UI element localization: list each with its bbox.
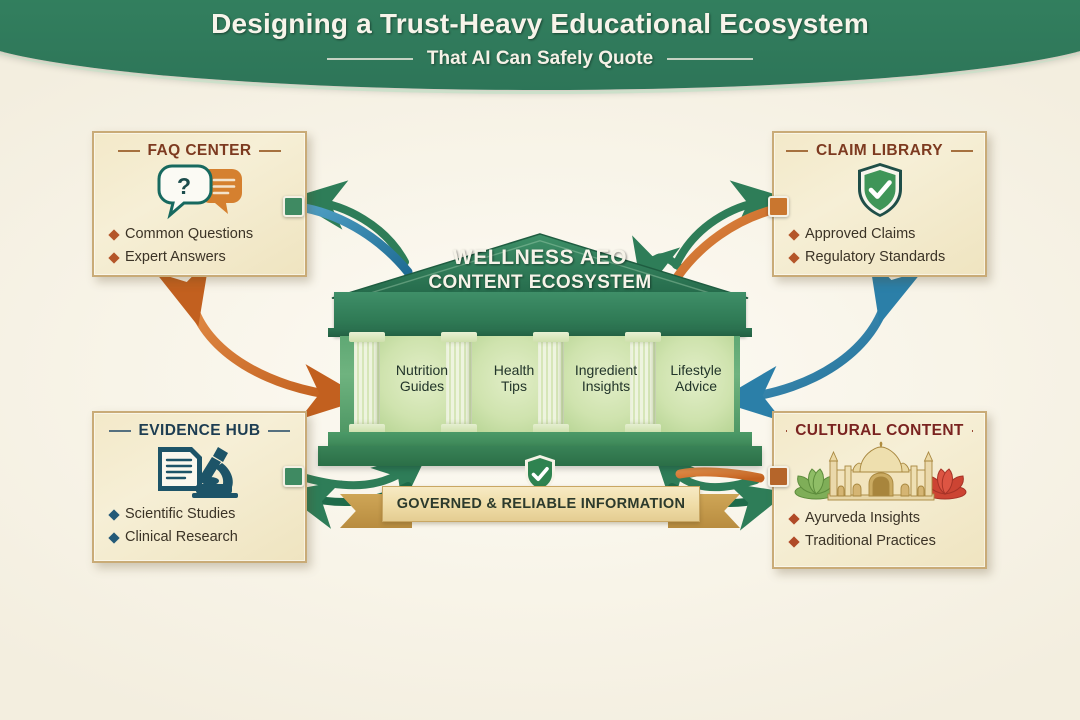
diamond-bullet-icon: [788, 536, 799, 547]
pillar-label-line1: Ingredient: [568, 362, 644, 378]
subtitle-rule-right: [667, 58, 753, 60]
banner-ribbon: GOVERNED & RELIABLE INFORMATION: [382, 486, 700, 522]
list-item: Common Questions: [110, 224, 293, 245]
card-rule-right: [972, 430, 973, 432]
infographic-canvas: Designing a Trust-Heavy Educational Ecos…: [0, 0, 1080, 720]
pillar-label-line2: Tips: [476, 378, 552, 394]
card-rule-right: [951, 150, 973, 152]
diamond-bullet-icon: [788, 513, 799, 524]
governance-banner: GOVERNED & RELIABLE INFORMATION: [340, 470, 740, 532]
diamond-bullet-icon: [108, 252, 119, 263]
diamond-bullet-icon: [108, 532, 119, 543]
pillar-label-line2: Guides: [384, 378, 460, 394]
list-item: Regulatory Standards: [790, 247, 973, 268]
list-item: Ayurveda Insights: [790, 508, 973, 529]
connector-nub-faq: [283, 196, 304, 217]
pillar-label-nutrition: Nutrition Guides: [384, 362, 460, 394]
card-bullet-list: Ayurveda Insights Traditional Practices: [786, 508, 973, 552]
title-block: Designing a Trust-Heavy Educational Ecos…: [0, 8, 1080, 70]
list-item-label: Scientific Studies: [125, 504, 235, 525]
list-item-label: Approved Claims: [805, 224, 915, 245]
connector-nub-claim: [768, 196, 789, 217]
list-item: Traditional Practices: [790, 531, 973, 552]
subtitle-row: That AI Can Safely Quote: [0, 48, 1080, 70]
list-item-label: Regulatory Standards: [805, 247, 945, 268]
card-bullet-list: Approved Claims Regulatory Standards: [786, 224, 973, 268]
card-title: EVIDENCE HUB: [139, 422, 261, 440]
page-title: Designing a Trust-Heavy Educational Ecos…: [0, 8, 1080, 40]
diamond-bullet-icon: [108, 229, 119, 240]
temple-column-1: [352, 332, 382, 436]
diamond-bullet-icon: [108, 509, 119, 520]
speech-bubbles-question-icon: ?: [106, 162, 293, 220]
pillar-label-line1: Health: [476, 362, 552, 378]
list-item-label: Common Questions: [125, 224, 253, 245]
list-item: Scientific Studies: [110, 504, 293, 525]
card-title: CLAIM LIBRARY: [816, 142, 943, 160]
column-shaft: [354, 342, 380, 424]
taj-mahal: [828, 442, 934, 500]
card-title-row: FAQ CENTER: [106, 142, 293, 160]
svg-text:?: ?: [176, 173, 190, 199]
arrow-right-sweep-blue: [742, 300, 886, 398]
list-item-label: Traditional Practices: [805, 531, 936, 552]
card-evidence-hub[interactable]: EVIDENCE HUB: [92, 411, 307, 563]
shield-check-icon: [786, 162, 973, 220]
list-item: Expert Answers: [110, 247, 293, 268]
card-rule-left: [786, 150, 808, 152]
list-item: Clinical Research: [110, 527, 293, 548]
list-item-label: Clinical Research: [125, 527, 238, 548]
column-capital: [441, 332, 477, 342]
banner-text: GOVERNED & RELIABLE INFORMATION: [397, 496, 686, 512]
card-bullet-list: Common Questions Expert Answers: [106, 224, 293, 268]
card-bullet-list: Scientific Studies Clinical Research: [106, 504, 293, 548]
card-title-row: CULTURAL CONTENT: [786, 422, 973, 440]
taj-mahal-lotus-icon: [786, 442, 973, 504]
central-temple-hub: WELLNESS AEO CONTENT ECOSYSTEM: [318, 232, 762, 472]
pillar-label-health: Health Tips: [476, 362, 552, 394]
pillar-label-line1: Lifestyle: [658, 362, 734, 378]
card-rule-left: [118, 150, 140, 152]
diamond-bullet-icon: [788, 252, 799, 263]
pillar-label-line1: Nutrition: [384, 362, 460, 378]
pillar-label-line2: Insights: [568, 378, 644, 394]
pillar-label-ingredient: Ingredient Insights: [568, 362, 644, 394]
card-title-row: CLAIM LIBRARY: [786, 142, 973, 160]
list-item-label: Expert Answers: [125, 247, 226, 268]
connector-nub-evidence: [283, 466, 304, 487]
card-title-row: EVIDENCE HUB: [106, 422, 293, 440]
document-microscope-icon: [106, 442, 293, 500]
card-cultural-content[interactable]: CULTURAL CONTENT: [772, 411, 987, 569]
column-capital: [533, 332, 569, 342]
diamond-bullet-icon: [788, 229, 799, 240]
temple-pediment-text: WELLNESS AEO CONTENT ECOSYSTEM: [318, 246, 762, 294]
pillar-label-lifestyle: Lifestyle Advice: [658, 362, 734, 394]
connector-nub-cultural: [768, 466, 789, 487]
card-rule-right: [259, 150, 281, 152]
card-title: FAQ CENTER: [148, 142, 252, 160]
list-item: Approved Claims: [790, 224, 973, 245]
card-rule-right: [268, 430, 290, 432]
list-item-label: Ayurveda Insights: [805, 508, 920, 529]
pillar-label-line2: Advice: [658, 378, 734, 394]
subtitle-rule-left: [327, 58, 413, 60]
card-faq-center[interactable]: FAQ CENTER ? Common Questions: [92, 131, 307, 277]
card-claim-library[interactable]: CLAIM LIBRARY Approved Claims Regulatory…: [772, 131, 987, 277]
temple-title-line2: CONTENT ECOSYSTEM: [318, 272, 762, 294]
card-title: CULTURAL CONTENT: [795, 422, 964, 440]
column-capital: [625, 332, 661, 342]
column-capital: [349, 332, 385, 342]
card-rule-left: [109, 430, 131, 432]
temple-title-line1: WELLNESS AEO: [318, 246, 762, 270]
card-rule-left: [786, 430, 787, 432]
page-subtitle: That AI Can Safely Quote: [427, 48, 653, 70]
